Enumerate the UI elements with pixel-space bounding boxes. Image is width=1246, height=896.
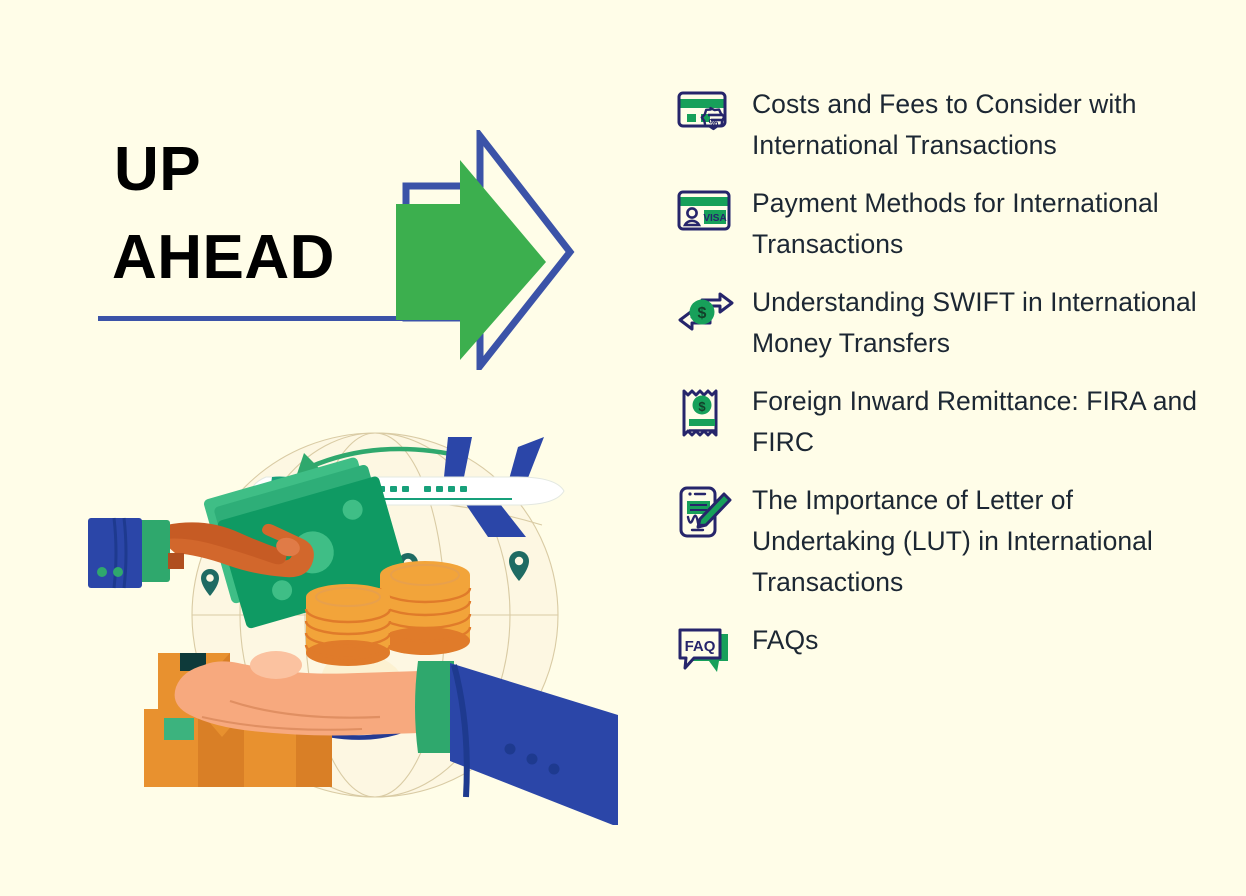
toc-item-letter-of-undertaking[interactable]: The Importance of Letter of Undertaking … xyxy=(676,480,1216,603)
toc-label-fira-firc: Foreign Inward Remittance: FIRA and FIRC xyxy=(738,381,1216,463)
toc-label-letter-of-undertaking: The Importance of Letter of Undertaking … xyxy=(738,480,1216,603)
left-panel: UP AHEAD xyxy=(0,0,660,896)
credit-card-percent-icon: % xyxy=(676,84,738,146)
toc-item-faqs[interactable]: FAQ FAQs xyxy=(676,620,1216,682)
svg-text:%: % xyxy=(709,118,719,130)
toc-label-costs-and-fees: Costs and Fees to Consider with Internat… xyxy=(738,84,1216,166)
visa-card-icon: VISA xyxy=(676,183,738,245)
receipt-dollar-icon: $ xyxy=(676,381,738,443)
international-money-transfer-illustration xyxy=(80,415,660,825)
money-exchange-arrows-icon: $ xyxy=(676,282,738,344)
mobile-signature-icon xyxy=(676,480,738,542)
table-of-contents-list: % Costs and Fees to Consider with Intern… xyxy=(676,84,1216,682)
svg-text:$: $ xyxy=(698,399,706,414)
right-arrow-graphic xyxy=(396,130,576,370)
svg-text:FAQ: FAQ xyxy=(685,638,716,655)
toc-item-costs-and-fees[interactable]: % Costs and Fees to Consider with Intern… xyxy=(676,84,1216,166)
toc-label-payment-methods: Payment Methods for International Transa… xyxy=(738,183,1216,265)
toc-label-swift: Understanding SWIFT in International Mon… xyxy=(738,282,1216,364)
toc-item-fira-firc[interactable]: $ Foreign Inward Remittance: FIRA and FI… xyxy=(676,381,1216,463)
toc-item-swift[interactable]: $ Understanding SWIFT in International M… xyxy=(676,282,1216,364)
toc-item-payment-methods[interactable]: VISA Payment Methods for International T… xyxy=(676,183,1216,265)
toc-label-faqs: FAQs xyxy=(738,620,1216,661)
faq-speech-bubble-icon: FAQ xyxy=(676,620,738,682)
svg-text:$: $ xyxy=(698,305,707,322)
svg-text:VISA: VISA xyxy=(703,213,726,224)
